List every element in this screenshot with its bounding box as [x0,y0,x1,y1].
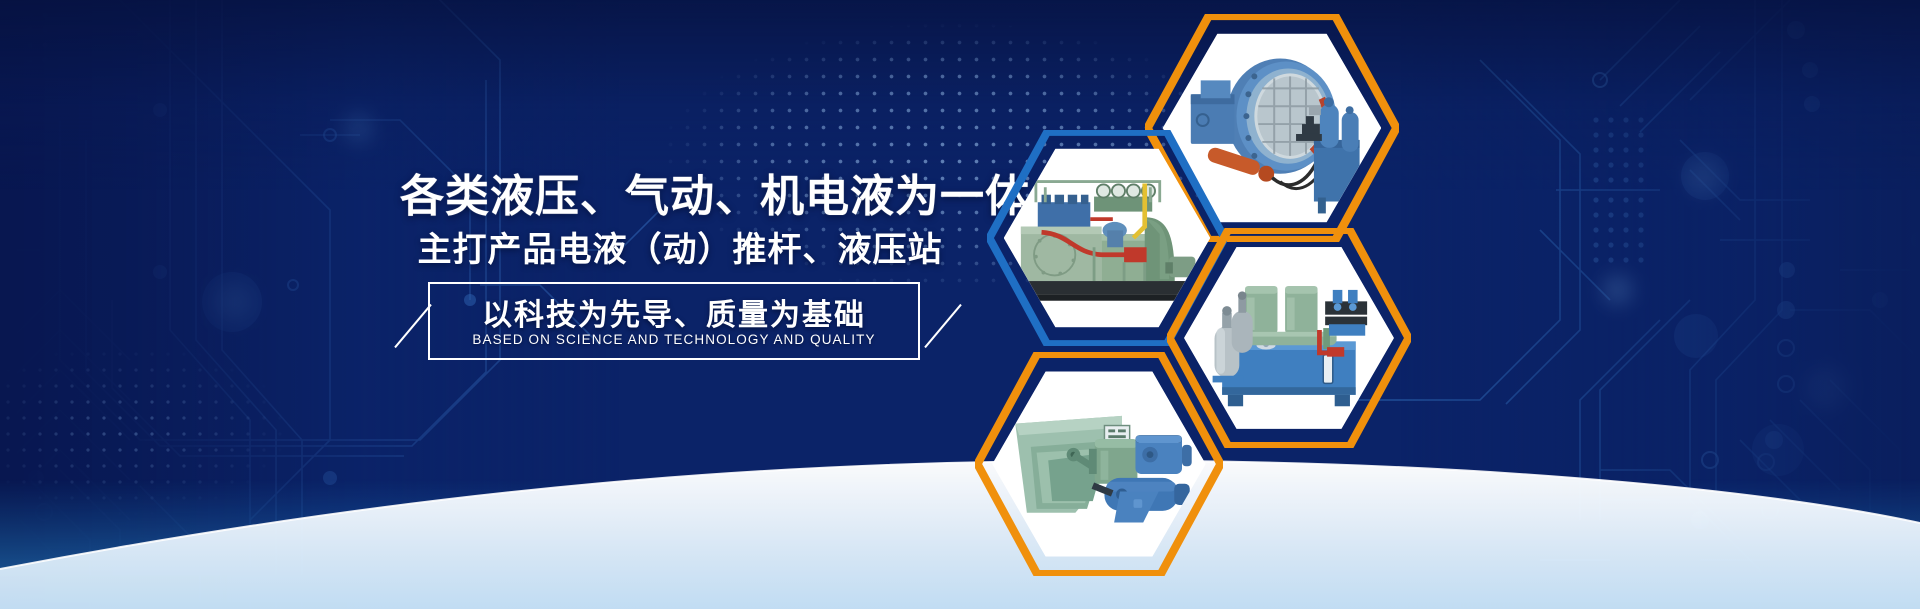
headline-line-1: 各类液压、气动、机电液为一体 [400,160,960,224]
slogan-block: 以科技为先导、质量为基础 BASED ON SCIENCE AND TECHNO… [398,282,978,362]
product-hex-electro-hydraulic-pusher-gate[interactable] [975,352,1223,576]
headline-line-2: 主打产品电液（动）推杆、液压站 [400,222,960,271]
banner-copy: 各类液压、气动、机电液为一体 主打产品电液（动）推杆、液压站 以科技为先导、质量… [0,0,1000,609]
product-hexagon-cluster [955,0,1555,609]
slogan-chinese: 以科技为先导、质量为基础 [428,290,920,334]
slogan-english: BASED ON SCIENCE AND TECHNOLOGY AND QUAL… [428,332,920,347]
slash-left-decor [394,304,432,348]
hero-banner: 各类液压、气动、机电液为一体 主打产品电液（动）推杆、液压站 以科技为先导、质量… [0,0,1920,609]
